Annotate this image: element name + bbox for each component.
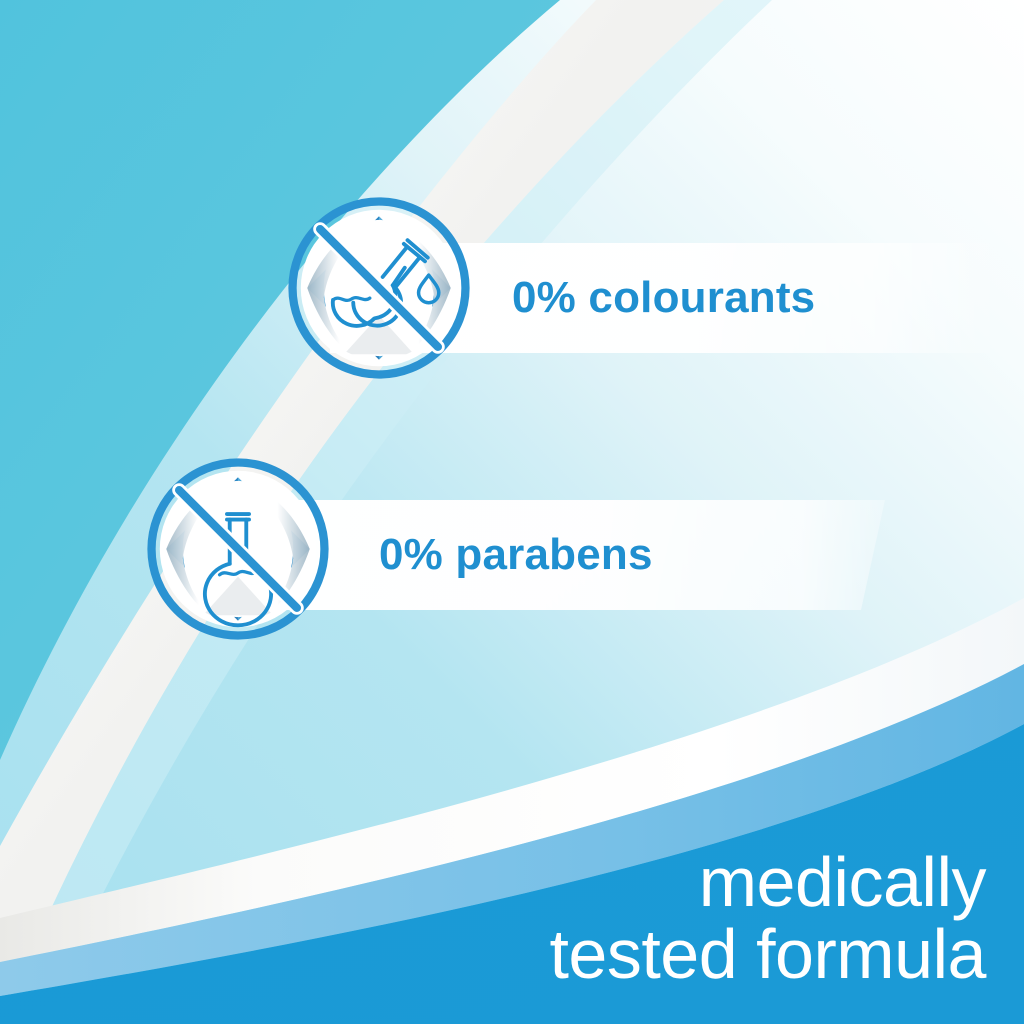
claim-label-colourants: 0% colourants	[512, 273, 815, 323]
product-claims-poster: 0% colourants 0% parabens	[0, 0, 1024, 1024]
headline-line-1: medically	[549, 847, 986, 918]
claim-label-parabens: 0% parabens	[379, 530, 653, 580]
no-colourants-badge-graphic	[287, 196, 471, 380]
headline-line-2: tested formula	[549, 919, 986, 990]
headline: medically tested formula	[549, 847, 986, 990]
no-parabens-icon	[146, 457, 330, 641]
no-parabens-badge-graphic	[146, 457, 330, 641]
no-colourants-icon	[287, 196, 471, 380]
